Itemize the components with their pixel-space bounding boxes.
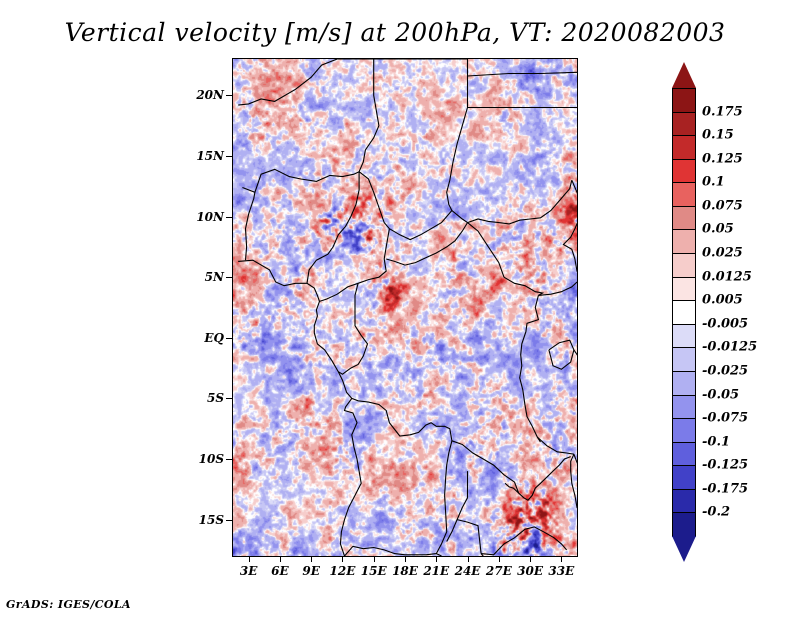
border-line [468,72,578,76]
colorbar-swatch[interactable] [672,347,696,372]
border-line [359,172,389,229]
border-line [457,520,481,554]
longitude-tick-mark [561,556,562,562]
border-line [238,260,361,556]
latitude-tick-mark [226,277,232,278]
colorbar-swatch[interactable] [672,112,696,137]
border-line [481,527,566,555]
longitude-tick-label: 21E [423,564,449,578]
longitude-tick-mark [311,556,312,562]
map-plot-area[interactable] [232,58,578,557]
latitude-tick-label: 20N [184,88,224,102]
longitude-tick-label: 9E [302,564,320,578]
colorbar-swatch[interactable] [672,182,696,207]
colorbar-swatch[interactable] [672,442,696,467]
latitude-tick-label: EQ [184,331,224,345]
border-line [537,437,574,454]
border-line [352,398,452,495]
colorbar-swatch[interactable] [672,277,696,302]
longitude-tick-label: 24E [455,564,481,578]
longitude-tick-label: 27E [486,564,512,578]
latitude-tick-label: 10N [184,210,224,224]
border-line [447,108,468,223]
longitude-tick-mark [468,556,469,562]
longitude-tick-mark [405,556,406,562]
latitude-tick-mark [226,520,232,521]
longitude-tick-label: 15E [361,564,387,578]
border-line [447,471,468,541]
border-line [468,180,572,224]
latitude-tick-label: 15N [184,149,224,163]
longitude-tick-label: 3E [240,564,258,578]
colorbar-tick-label: 0.05 [702,222,734,237]
colorbar-tick-label: 0.005 [702,293,743,308]
colorbar-tick-label: 0.075 [702,198,743,213]
grads-figure: Vertical velocity [m/s] at 200hPa, VT: 2… [0,0,800,618]
longitude-tick-mark [499,556,500,562]
colorbar-tick-label: -0.175 [702,481,748,496]
longitude-tick-label: 12E [330,564,356,578]
colorbar-swatch[interactable] [672,88,696,113]
border-line [389,211,452,240]
country-borders [233,59,577,556]
border-line [386,223,467,266]
longitude-tick-mark [436,556,437,562]
border-line [504,277,543,295]
colorbar-tick-label: 0.175 [702,104,743,119]
border-line [320,229,390,302]
latitude-tick-label: 5N [184,270,224,284]
colorbar-tick-label: 0.025 [702,246,743,261]
latitude-tick-mark [226,217,232,218]
border-line [307,172,359,284]
border-line [563,180,577,277]
colorbar-max-arrow-icon [672,62,696,88]
colorbar-tick-label: 0.1 [702,175,725,190]
colorbar-swatch[interactable] [672,206,696,231]
border-line [345,495,447,556]
colorbar-swatch[interactable] [672,324,696,349]
latitude-tick-label: 15S [184,513,224,527]
colorbar-swatch[interactable] [672,371,696,396]
longitude-tick-label: 18E [392,564,418,578]
longitude-tick-label: 30E [517,564,543,578]
latitude-tick-label: 5S [184,391,224,405]
longitude-tick-mark [342,556,343,562]
colorbar-tick-label: 0.15 [702,128,734,143]
colorbar-swatch[interactable] [672,489,696,514]
colorbar-swatch[interactable] [672,159,696,184]
latitude-tick-mark [226,459,232,460]
longitude-tick-label: 33E [548,564,574,578]
latitude-tick-mark [226,156,232,157]
border-line [520,295,541,442]
longitude-tick-mark [249,556,250,562]
attribution-footer: GrADS: IGES/COLA [6,598,131,611]
latitude-tick-mark [226,398,232,399]
colorbar-tick-label: 0.125 [702,151,743,166]
page-title: Vertical velocity [m/s] at 200hPa, VT: 2… [0,18,790,47]
colorbar-swatch[interactable] [672,465,696,490]
colorbar-tick-label: 0.0125 [702,269,752,284]
colorbar-min-arrow-icon [672,536,696,562]
colorbar-tick-label: -0.005 [702,316,748,331]
colorbar-swatch[interactable] [672,418,696,443]
border-line [549,340,574,369]
colorbar-tick-label: -0.025 [702,363,748,378]
border-line [574,350,577,374]
colorbar-swatch[interactable] [672,135,696,160]
border-line [242,169,359,192]
latitude-tick-mark [226,95,232,96]
latitude-tick-label: 10S [184,452,224,466]
colorbar-swatch[interactable] [672,300,696,325]
border-line [238,59,337,105]
longitude-tick-mark [280,556,281,562]
colorbar-tick-label: -0.125 [702,458,748,473]
colorbar-swatch[interactable] [672,229,696,254]
border-line [338,283,367,374]
border-line [246,192,255,260]
border-line [571,454,577,512]
colorbar-tick-label: -0.2 [702,505,730,520]
border-line [359,59,379,172]
colorbar-swatch[interactable] [672,395,696,420]
colorbar-tick-label: -0.1 [702,434,730,449]
colorbar-swatch[interactable] [672,253,696,278]
latitude-tick-mark [226,338,232,339]
longitude-tick-mark [530,556,531,562]
longitude-tick-mark [374,556,375,562]
colorbar-tick-label: -0.05 [702,387,739,402]
longitude-tick-label: 6E [271,564,289,578]
colorbar-tick-label: -0.075 [702,411,748,426]
border-line [538,282,577,295]
colorbar-tick-label: -0.0125 [702,340,757,355]
border-line [468,223,505,278]
colorbar[interactable]: 0.1750.150.1250.10.0750.050.0250.01250.0… [672,62,696,562]
colorbar-swatch[interactable] [672,512,696,537]
